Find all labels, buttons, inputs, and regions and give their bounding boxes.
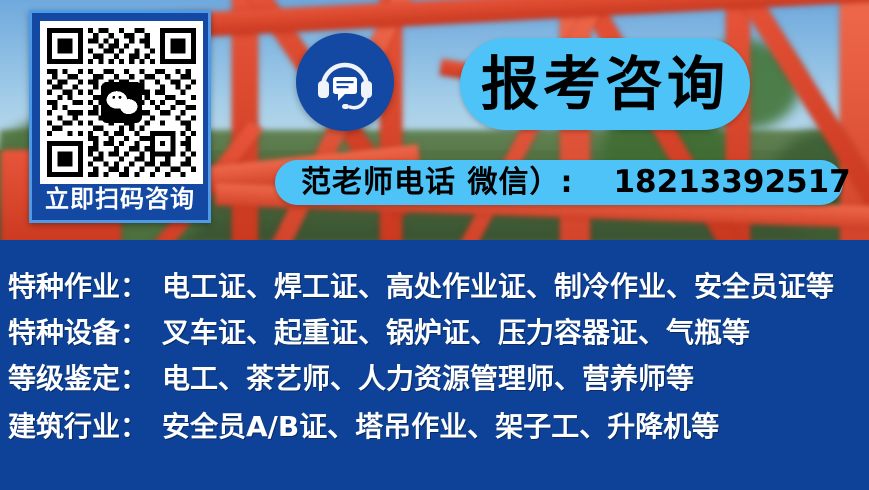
qr-code-card[interactable]: 立即扫码咨询 [29,10,211,223]
info-row-construction-industry: 建筑行业：安全员A/B证、塔吊作业、架子工、升降机等 [8,405,719,445]
consult-title-pill[interactable]: 报考咨询 [460,38,750,130]
qr-caption: 立即扫码咨询 [32,181,208,217]
promo-banner: 立即扫码咨询 报考咨询 范老师电话 微信）:18213392517 特种作业： [0,0,869,490]
info-row-value: 安全员A/B证、塔吊作业、架子工、升降机等 [162,410,719,443]
phone-label: 范老师电话 微信）: [301,165,573,200]
info-row-special-equipment: 特种设备：叉车证、起重证、锅炉证、压力容器证、气瓶等 [8,311,750,351]
support-badge[interactable] [296,33,394,131]
info-row-value: 电工证、焊工证、高处作业证、制冷作业、安全员证等 [162,270,834,303]
info-row-label: 特种作业： [8,270,148,303]
info-row-grade-appraisal: 等级鉴定：电工、茶艺师、人力资源管理师、营养师等 [8,357,694,397]
info-row-special-operations: 特种作业：电工证、焊工证、高处作业证、制冷作业、安全员证等 [8,265,834,305]
phone-number[interactable]: 18213392517 [613,160,850,205]
info-row-label: 等级鉴定： [8,362,148,395]
headset-support-icon [314,51,376,113]
qr-code-image [40,21,203,184]
info-row-label: 建筑行业： [8,410,148,443]
certificate-list-panel: 特种作业：电工证、焊工证、高处作业证、制冷作业、安全员证等 特种设备：叉车证、起… [0,240,869,490]
phone-pill[interactable]: 范老师电话 微信）:18213392517 [275,160,843,205]
info-row-value: 叉车证、起重证、锅炉证、压力容器证、气瓶等 [162,316,750,349]
info-row-label: 特种设备： [8,316,148,349]
info-row-value: 电工、茶艺师、人力资源管理师、营养师等 [162,362,694,395]
consult-title-label: 报考咨询 [481,50,729,118]
qr-matrix-svg [47,28,196,177]
